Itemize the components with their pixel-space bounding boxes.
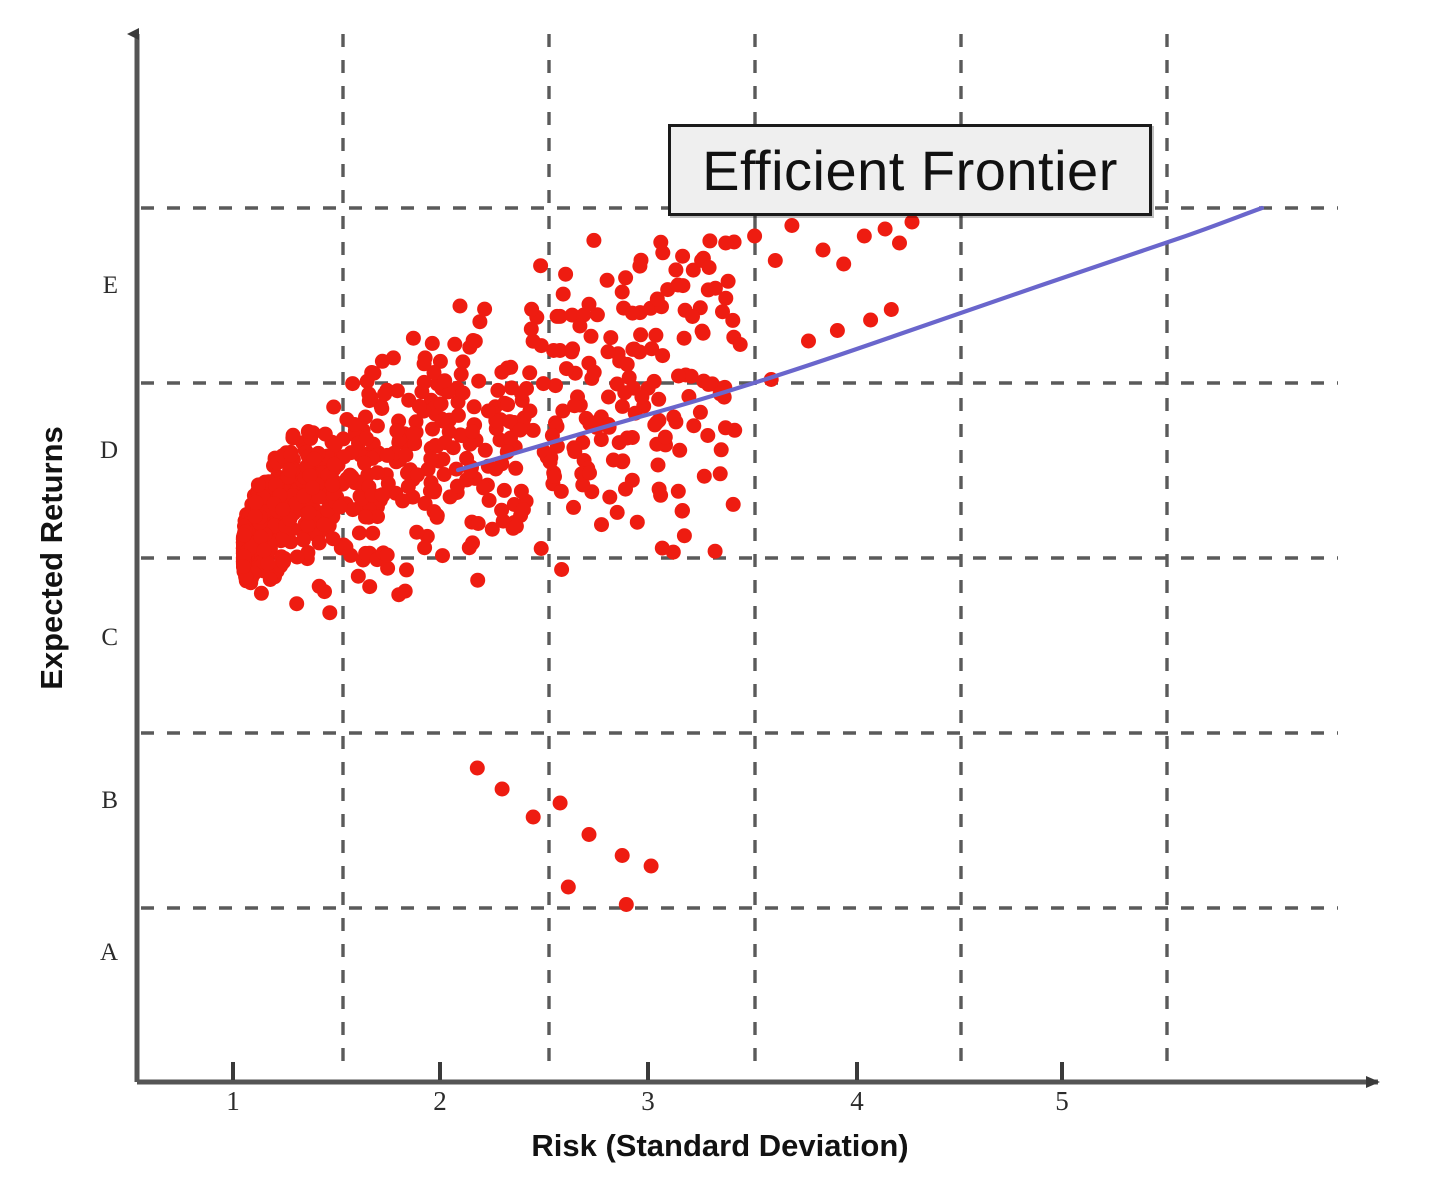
x-tick-label-4: 4 xyxy=(837,1086,877,1117)
x-tick-label-3: 3 xyxy=(628,1086,668,1117)
x-axis-ticks xyxy=(233,1062,1062,1080)
chart-root: Efficient Frontier Expected Returns Risk… xyxy=(0,0,1440,1193)
horizontal-gridlines xyxy=(141,208,1338,908)
y-tick-label-c: C xyxy=(78,624,118,652)
y-tick-label-d: D xyxy=(78,437,118,465)
y-tick-label-b: B xyxy=(78,787,118,815)
x-tick-label-2: 2 xyxy=(420,1086,460,1117)
x-axis-title: Risk (Standard Deviation) xyxy=(380,1128,1060,1164)
chart-title: Efficient Frontier xyxy=(702,138,1118,203)
scatter-points xyxy=(236,148,1060,912)
x-tick-label-5: 5 xyxy=(1042,1086,1082,1117)
x-tick-label-1: 1 xyxy=(213,1086,253,1117)
chart-title-box: Efficient Frontier xyxy=(668,124,1152,216)
y-tick-label-e: E xyxy=(78,272,118,300)
efficient-frontier-line xyxy=(458,208,1262,470)
y-axis-title: Expected Returns xyxy=(34,358,70,758)
y-tick-label-a: A xyxy=(78,939,118,967)
